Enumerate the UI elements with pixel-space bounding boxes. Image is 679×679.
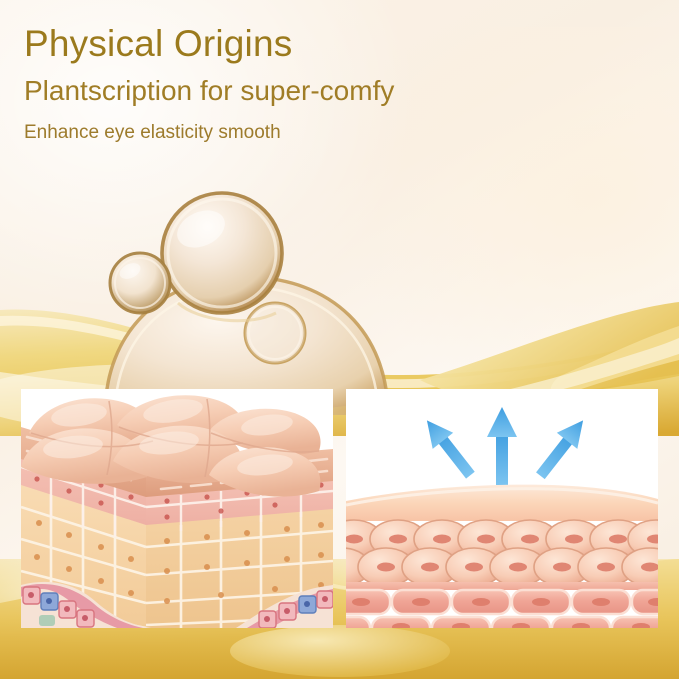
cell-layer-absorption-diagram: [346, 389, 658, 628]
skin-cross-section-diagram: [21, 389, 333, 628]
round-cell-row-2: [346, 548, 658, 586]
headings-block: Physical Origins Plantscription for supe…: [24, 20, 624, 145]
page-title: Physical Origins: [24, 20, 624, 67]
page-subtitle: Plantscription for super-comfy: [24, 73, 624, 109]
page-tagline: Enhance eye elasticity smooth: [24, 121, 624, 146]
oil-bubble-cluster: [70, 185, 490, 415]
product-infographic-poster: Physical Origins Plantscription for supe…: [0, 0, 679, 679]
